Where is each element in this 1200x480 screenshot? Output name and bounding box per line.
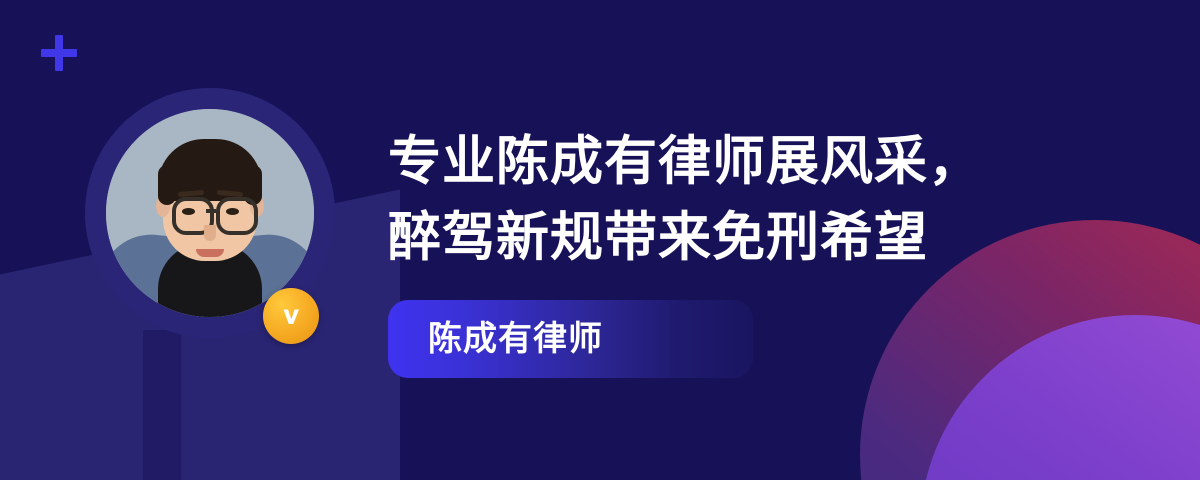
avatar <box>85 88 335 338</box>
lawyer-name-button[interactable]: 陈成有律师 <box>388 300 753 378</box>
page-title: 专业陈成有律师展风采， 醉驾新规带来免刑希望 <box>388 124 1088 276</box>
verified-badge-icon <box>263 288 319 344</box>
headline-line-1: 专业陈成有律师展风采， <box>388 124 1088 200</box>
avatar-photo <box>106 109 314 317</box>
plus-icon <box>41 35 77 71</box>
lawyer-promo-banner: 专业陈成有律师展风采， 醉驾新规带来免刑希望 陈成有律师 <box>0 0 1200 480</box>
decorative-triangle-shape <box>186 398 336 480</box>
banner-content: 专业陈成有律师展风采， 醉驾新规带来免刑希望 陈成有律师 <box>388 124 1088 378</box>
headline-line-2: 醉驾新规带来免刑希望 <box>388 200 1088 276</box>
decorative-stem-shape <box>143 330 181 480</box>
